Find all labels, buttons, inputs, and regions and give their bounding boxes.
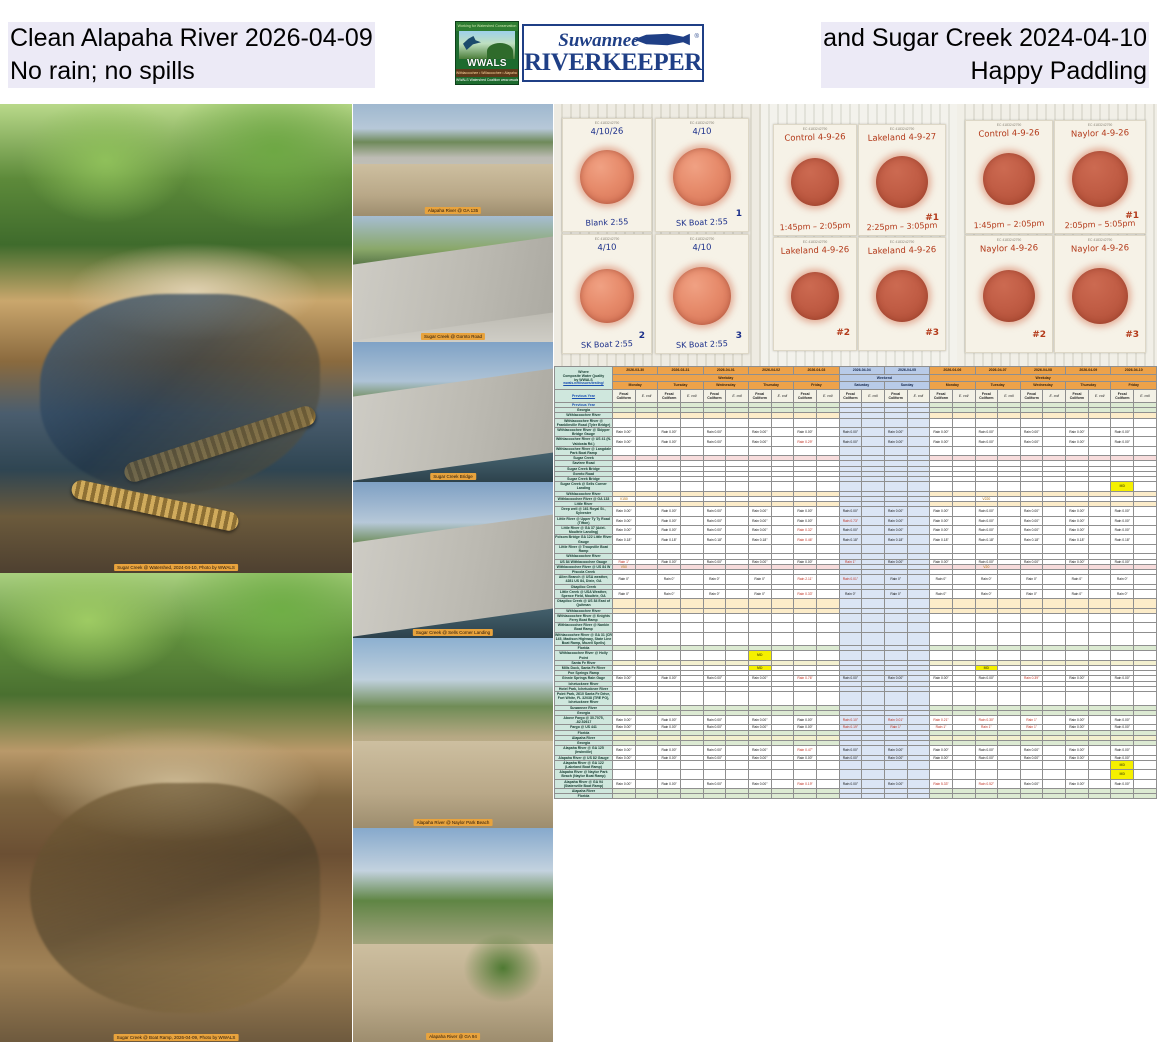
data-cell[interactable]: Rain 0.00": [930, 516, 953, 525]
data-cell[interactable]: [1066, 599, 1089, 608]
data-cell[interactable]: [907, 526, 930, 535]
data-cell[interactable]: Rain 0.00": [930, 437, 953, 446]
data-cell[interactable]: [884, 482, 907, 491]
data-cell[interactable]: [680, 428, 703, 437]
data-cell[interactable]: [726, 575, 749, 584]
table-row[interactable]: Okapilco Creek @ US 84 East of Quitman: [555, 599, 1157, 608]
data-cell[interactable]: [635, 589, 658, 598]
data-cell[interactable]: [635, 691, 658, 705]
data-cell[interactable]: Rain 0.00": [748, 507, 771, 516]
data-cell[interactable]: Rain 0.00": [703, 746, 726, 755]
data-cell[interactable]: [1043, 437, 1066, 446]
data-cell[interactable]: [1134, 746, 1157, 755]
data-cell[interactable]: Rain 0": [1066, 575, 1089, 584]
previous-year-link[interactable]: Previous Year: [555, 390, 613, 403]
data-cell[interactable]: [771, 516, 794, 525]
data-cell[interactable]: [839, 770, 862, 779]
data-cell[interactable]: [1020, 770, 1043, 779]
data-cell[interactable]: [726, 418, 749, 427]
data-cell[interactable]: Rain 0": [1111, 589, 1134, 598]
data-cell[interactable]: [680, 516, 703, 525]
data-cell[interactable]: [1043, 651, 1066, 660]
data-cell[interactable]: [816, 716, 839, 725]
data-cell[interactable]: [839, 544, 862, 553]
data-cell[interactable]: [794, 418, 817, 427]
data-cell[interactable]: Rain 0.00": [884, 437, 907, 446]
data-cell[interactable]: [1134, 779, 1157, 788]
data-cell[interactable]: MD: [1111, 482, 1134, 491]
data-cell[interactable]: Rain 0.18": [613, 535, 636, 544]
data-cell[interactable]: [998, 746, 1021, 755]
data-cell[interactable]: [1088, 651, 1111, 660]
data-cell[interactable]: [703, 760, 726, 769]
data-cell[interactable]: Rain 0.29": [794, 437, 817, 446]
data-cell[interactable]: [748, 613, 771, 622]
data-cell[interactable]: [726, 613, 749, 622]
data-cell[interactable]: Rain 0": [975, 575, 998, 584]
data-cell[interactable]: [839, 482, 862, 491]
data-cell[interactable]: Rain 0.18": [658, 535, 681, 544]
data-cell[interactable]: [816, 770, 839, 779]
data-cell[interactable]: [613, 794, 636, 799]
data-cell[interactable]: [680, 760, 703, 769]
data-cell[interactable]: [794, 623, 817, 632]
table-row[interactable]: Withlacoochee River @ Nankin Boat Ramp: [555, 623, 1157, 632]
data-cell[interactable]: [771, 632, 794, 646]
data-cell[interactable]: [862, 632, 885, 646]
data-cell[interactable]: [816, 526, 839, 535]
data-cell[interactable]: [1043, 428, 1066, 437]
data-cell[interactable]: [907, 507, 930, 516]
data-cell[interactable]: [1134, 575, 1157, 584]
data-cell[interactable]: Rain 0.00": [703, 428, 726, 437]
data-cell[interactable]: [1088, 428, 1111, 437]
table-row[interactable]: Above Fargo @ 30.7075, -82.52617Rain 0.0…: [555, 716, 1157, 725]
data-cell[interactable]: [726, 516, 749, 525]
data-cell[interactable]: [884, 794, 907, 799]
data-cell[interactable]: [680, 482, 703, 491]
data-cell[interactable]: [907, 535, 930, 544]
data-cell[interactable]: Rain 0.00": [975, 516, 998, 525]
data-cell[interactable]: [771, 623, 794, 632]
data-cell[interactable]: [816, 632, 839, 646]
data-cell[interactable]: [635, 651, 658, 660]
data-cell[interactable]: Rain 0.00": [613, 428, 636, 437]
data-cell[interactable]: [884, 770, 907, 779]
data-cell[interactable]: [794, 632, 817, 646]
data-cell[interactable]: [862, 599, 885, 608]
data-cell[interactable]: [748, 599, 771, 608]
data-cell[interactable]: [862, 535, 885, 544]
data-cell[interactable]: [1066, 544, 1089, 553]
data-cell[interactable]: [680, 613, 703, 622]
data-cell[interactable]: Rain 0.00": [658, 437, 681, 446]
data-cell[interactable]: [952, 507, 975, 516]
data-cell[interactable]: [1043, 599, 1066, 608]
data-cell[interactable]: Rain 0.47": [794, 746, 817, 755]
data-cell[interactable]: [635, 760, 658, 769]
data-cell[interactable]: [998, 544, 1021, 553]
data-cell[interactable]: [635, 516, 658, 525]
data-cell[interactable]: [998, 779, 1021, 788]
data-cell[interactable]: Rain 0.00": [839, 779, 862, 788]
data-cell[interactable]: [726, 437, 749, 446]
data-cell[interactable]: Rain 0.00": [613, 507, 636, 516]
data-cell[interactable]: [1043, 632, 1066, 646]
data-cell[interactable]: Rain 0.00": [748, 779, 771, 788]
data-cell[interactable]: Rain 0.00": [884, 428, 907, 437]
data-cell[interactable]: [839, 632, 862, 646]
data-cell[interactable]: [1066, 794, 1089, 799]
data-cell[interactable]: [998, 613, 1021, 622]
data-cell[interactable]: Rain 2.11": [794, 575, 817, 584]
data-cell[interactable]: [771, 770, 794, 779]
data-cell[interactable]: [1134, 632, 1157, 646]
data-cell[interactable]: [816, 613, 839, 622]
data-cell[interactable]: [930, 446, 953, 455]
data-cell[interactable]: [975, 691, 998, 705]
data-cell[interactable]: [816, 575, 839, 584]
water-quality-table-wrapper[interactable]: Where Composite Water Quality by WWALS w…: [554, 366, 1157, 1042]
data-cell[interactable]: Rain 0": [839, 589, 862, 598]
data-cell[interactable]: [613, 544, 636, 553]
data-cell[interactable]: Rain 0.18": [1111, 535, 1134, 544]
data-cell[interactable]: [680, 589, 703, 598]
data-cell[interactable]: [1066, 623, 1089, 632]
data-cell[interactable]: [748, 418, 771, 427]
data-cell[interactable]: [613, 599, 636, 608]
data-cell[interactable]: [862, 482, 885, 491]
data-cell[interactable]: [907, 613, 930, 622]
data-cell[interactable]: [658, 794, 681, 799]
data-cell[interactable]: [1088, 535, 1111, 544]
data-cell[interactable]: Rain 0.00": [703, 526, 726, 535]
data-cell[interactable]: [1134, 535, 1157, 544]
data-cell[interactable]: [975, 482, 998, 491]
data-cell[interactable]: Rain 0.00": [748, 437, 771, 446]
data-cell[interactable]: [998, 632, 1021, 646]
data-cell[interactable]: Rain 0": [613, 589, 636, 598]
data-cell[interactable]: Rain 0.00": [794, 516, 817, 525]
data-cell[interactable]: [748, 482, 771, 491]
data-cell[interactable]: Rain 0.32": [794, 526, 817, 535]
data-cell[interactable]: [816, 535, 839, 544]
data-cell[interactable]: [907, 770, 930, 779]
data-cell[interactable]: [794, 651, 817, 660]
data-cell[interactable]: [907, 428, 930, 437]
data-cell[interactable]: [1134, 623, 1157, 632]
table-row[interactable]: Alapaha River @ GA 125 (Irwinville)Rain …: [555, 746, 1157, 755]
data-cell[interactable]: [907, 632, 930, 646]
data-cell[interactable]: [952, 779, 975, 788]
data-cell[interactable]: Rain 0.73": [839, 516, 862, 525]
data-cell[interactable]: [907, 623, 930, 632]
table-row[interactable]: Florida: [555, 794, 1157, 799]
data-cell[interactable]: Rain 0.18": [703, 535, 726, 544]
data-cell[interactable]: [1066, 632, 1089, 646]
data-cell[interactable]: [998, 526, 1021, 535]
data-cell[interactable]: Rain 0.00": [1111, 437, 1134, 446]
data-cell[interactable]: [884, 613, 907, 622]
data-cell[interactable]: [771, 418, 794, 427]
data-cell[interactable]: [1020, 544, 1043, 553]
data-cell[interactable]: [1134, 770, 1157, 779]
data-cell[interactable]: [726, 716, 749, 725]
data-cell[interactable]: [998, 651, 1021, 660]
data-cell[interactable]: [862, 446, 885, 455]
data-cell[interactable]: [998, 794, 1021, 799]
data-cell[interactable]: [862, 691, 885, 705]
data-cell[interactable]: [635, 613, 658, 622]
data-cell[interactable]: [613, 632, 636, 646]
data-cell[interactable]: [1043, 746, 1066, 755]
data-cell[interactable]: [680, 623, 703, 632]
data-cell[interactable]: Rain 0.00": [1066, 559, 1089, 564]
data-cell[interactable]: Rain 0": [1066, 589, 1089, 598]
data-cell[interactable]: [680, 651, 703, 660]
data-cell[interactable]: Rain 0.00": [658, 428, 681, 437]
data-cell[interactable]: [658, 482, 681, 491]
data-cell[interactable]: [680, 446, 703, 455]
data-cell[interactable]: Rain 1": [1020, 716, 1043, 725]
data-cell[interactable]: [748, 770, 771, 779]
data-cell[interactable]: [816, 507, 839, 516]
table-row[interactable]: Alapaha River @ GA 122 (Lakeland Boat Ra…: [555, 760, 1157, 769]
data-cell[interactable]: [771, 760, 794, 769]
data-cell[interactable]: [726, 535, 749, 544]
data-cell[interactable]: [952, 770, 975, 779]
data-cell[interactable]: [1043, 516, 1066, 525]
data-cell[interactable]: [658, 599, 681, 608]
data-cell[interactable]: [1134, 526, 1157, 535]
data-cell[interactable]: [1043, 770, 1066, 779]
data-cell[interactable]: [1043, 535, 1066, 544]
data-cell[interactable]: [839, 599, 862, 608]
data-cell[interactable]: Rain 0.18": [748, 535, 771, 544]
data-cell[interactable]: [726, 746, 749, 755]
data-cell[interactable]: Rain 0.00": [1066, 779, 1089, 788]
data-cell[interactable]: [952, 482, 975, 491]
data-cell[interactable]: [635, 599, 658, 608]
data-cell[interactable]: [771, 589, 794, 598]
data-cell[interactable]: [703, 623, 726, 632]
data-cell[interactable]: [794, 770, 817, 779]
data-cell[interactable]: [726, 507, 749, 516]
data-cell[interactable]: [1111, 418, 1134, 427]
data-cell[interactable]: [862, 770, 885, 779]
data-cell[interactable]: [907, 599, 930, 608]
data-cell[interactable]: [658, 651, 681, 660]
data-cell[interactable]: [613, 623, 636, 632]
data-cell[interactable]: Rain 0.00": [613, 526, 636, 535]
data-cell[interactable]: [839, 651, 862, 660]
data-cell[interactable]: Rain 0.18": [1020, 535, 1043, 544]
data-cell[interactable]: Rain 0.18": [975, 535, 998, 544]
data-cell[interactable]: [635, 418, 658, 427]
data-cell[interactable]: Rain 0": [884, 575, 907, 584]
data-cell[interactable]: [1134, 482, 1157, 491]
data-cell[interactable]: [952, 716, 975, 725]
table-row[interactable]: Little River @ GA 37 (Adel-Moultrie Land…: [555, 526, 1157, 535]
data-cell[interactable]: [1043, 507, 1066, 516]
data-cell[interactable]: [1020, 691, 1043, 705]
data-cell[interactable]: Rain 0.00": [930, 507, 953, 516]
data-cell[interactable]: [1043, 613, 1066, 622]
data-cell[interactable]: [998, 760, 1021, 769]
data-cell[interactable]: [1066, 613, 1089, 622]
data-cell[interactable]: [998, 599, 1021, 608]
table-row[interactable]: Alapaha River @ GA 94 (Statenville Boat …: [555, 779, 1157, 788]
data-cell[interactable]: [635, 544, 658, 553]
table-row[interactable]: Withlacoochee River @ Holly PointMD: [555, 651, 1157, 660]
data-cell[interactable]: [952, 418, 975, 427]
data-cell[interactable]: [1020, 794, 1043, 799]
data-cell[interactable]: Rain 0.00": [1111, 716, 1134, 725]
data-cell[interactable]: [658, 632, 681, 646]
data-cell[interactable]: Rain 0.00": [1020, 526, 1043, 535]
data-cell[interactable]: [975, 794, 998, 799]
data-cell[interactable]: [1020, 418, 1043, 427]
data-cell[interactable]: [1043, 794, 1066, 799]
data-cell[interactable]: Rain 0.00": [613, 779, 636, 788]
data-cell[interactable]: [952, 516, 975, 525]
data-cell[interactable]: [816, 482, 839, 491]
data-cell[interactable]: [907, 760, 930, 769]
data-cell[interactable]: [1111, 623, 1134, 632]
data-cell[interactable]: Rain 0.00": [794, 428, 817, 437]
data-cell[interactable]: Rain 0.00": [1020, 779, 1043, 788]
data-cell[interactable]: [635, 507, 658, 516]
data-cell[interactable]: [635, 632, 658, 646]
data-cell[interactable]: [680, 794, 703, 799]
data-cell[interactable]: [1043, 691, 1066, 705]
data-cell[interactable]: [1043, 446, 1066, 455]
data-cell[interactable]: [952, 599, 975, 608]
data-cell[interactable]: Rain 0.30": [975, 716, 998, 725]
data-cell[interactable]: [839, 613, 862, 622]
data-cell[interactable]: [703, 794, 726, 799]
data-cell[interactable]: [975, 623, 998, 632]
data-cell[interactable]: [884, 691, 907, 705]
data-cell[interactable]: Rain 0.52": [975, 779, 998, 788]
data-cell[interactable]: [952, 544, 975, 553]
data-cell[interactable]: [726, 623, 749, 632]
data-cell[interactable]: [613, 651, 636, 660]
table-row[interactable]: Little Creek @ USA Weather, Spence Field…: [555, 589, 1157, 598]
data-cell[interactable]: [1088, 716, 1111, 725]
data-cell[interactable]: [952, 437, 975, 446]
data-cell[interactable]: [771, 575, 794, 584]
data-cell[interactable]: [952, 428, 975, 437]
data-cell[interactable]: Rain 0.00": [1066, 507, 1089, 516]
data-cell[interactable]: [952, 794, 975, 799]
data-cell[interactable]: [658, 418, 681, 427]
data-cell[interactable]: Rain 0.18": [1066, 535, 1089, 544]
data-cell[interactable]: [613, 613, 636, 622]
data-cell[interactable]: Rain 0.00": [975, 746, 998, 755]
data-cell[interactable]: [952, 613, 975, 622]
data-cell[interactable]: Rain 0.00": [1066, 516, 1089, 525]
data-cell[interactable]: [680, 632, 703, 646]
data-cell[interactable]: Rain 0.00": [884, 507, 907, 516]
data-cell[interactable]: [998, 446, 1021, 455]
data-cell[interactable]: [635, 623, 658, 632]
data-cell[interactable]: [1088, 589, 1111, 598]
table-row[interactable]: Withlacoochee River @ Skipper Bridge Gau…: [555, 428, 1157, 437]
data-cell[interactable]: [862, 623, 885, 632]
data-cell[interactable]: [975, 544, 998, 553]
data-cell[interactable]: [816, 437, 839, 446]
data-cell[interactable]: [1020, 613, 1043, 622]
data-cell[interactable]: [748, 691, 771, 705]
data-cell[interactable]: [1043, 418, 1066, 427]
data-cell[interactable]: [930, 651, 953, 660]
data-cell[interactable]: [907, 779, 930, 788]
data-cell[interactable]: [816, 691, 839, 705]
table-row[interactable]: Withlacoochee River @ US 41 (N. Valdosta…: [555, 437, 1157, 446]
data-cell[interactable]: [1066, 418, 1089, 427]
data-cell[interactable]: [862, 575, 885, 584]
data-cell[interactable]: [658, 770, 681, 779]
data-cell[interactable]: Rain 0.00": [703, 516, 726, 525]
data-cell[interactable]: [907, 446, 930, 455]
data-cell[interactable]: Rain 0.21": [930, 716, 953, 725]
data-cell[interactable]: [975, 418, 998, 427]
data-cell[interactable]: [794, 794, 817, 799]
data-cell[interactable]: Rain 0.00": [839, 746, 862, 755]
data-cell[interactable]: Rain 0.19": [794, 779, 817, 788]
table-row[interactable]: Alapaha River @ Naylor Park Beach (Naylo…: [555, 770, 1157, 779]
data-cell[interactable]: [816, 779, 839, 788]
data-cell[interactable]: [1043, 623, 1066, 632]
data-cell[interactable]: [748, 632, 771, 646]
data-cell[interactable]: [771, 613, 794, 622]
data-cell[interactable]: [794, 482, 817, 491]
data-cell[interactable]: [635, 526, 658, 535]
data-cell[interactable]: Rain 0": [613, 575, 636, 584]
data-cell[interactable]: [816, 599, 839, 608]
table-row[interactable]: Withlacoochee River @ Knights Ferry Boat…: [555, 613, 1157, 622]
data-cell[interactable]: [635, 716, 658, 725]
data-cell[interactable]: [975, 760, 998, 769]
data-cell[interactable]: [1088, 794, 1111, 799]
data-cell[interactable]: Rain 0.00": [703, 437, 726, 446]
data-cell[interactable]: [930, 418, 953, 427]
data-cell[interactable]: Rain 0.18": [884, 535, 907, 544]
data-cell[interactable]: [907, 544, 930, 553]
data-cell[interactable]: [816, 446, 839, 455]
data-cell[interactable]: Rain 0.00": [1066, 746, 1089, 755]
data-cell[interactable]: [1088, 613, 1111, 622]
data-cell[interactable]: [930, 794, 953, 799]
data-cell[interactable]: Rain 0.00": [839, 437, 862, 446]
data-cell[interactable]: [907, 794, 930, 799]
data-cell[interactable]: [816, 794, 839, 799]
data-cell[interactable]: [1043, 575, 1066, 584]
data-cell[interactable]: [930, 544, 953, 553]
data-cell[interactable]: [680, 691, 703, 705]
data-cell[interactable]: Rain 0.00": [884, 746, 907, 755]
data-cell[interactable]: Rain 0.00": [703, 716, 726, 725]
data-cell[interactable]: [726, 779, 749, 788]
data-cell[interactable]: Rain 0.00": [1020, 746, 1043, 755]
data-cell[interactable]: [907, 746, 930, 755]
data-cell[interactable]: [658, 760, 681, 769]
data-cell[interactable]: [884, 418, 907, 427]
data-cell[interactable]: [1134, 437, 1157, 446]
data-cell[interactable]: [1043, 589, 1066, 598]
data-cell[interactable]: [839, 760, 862, 769]
